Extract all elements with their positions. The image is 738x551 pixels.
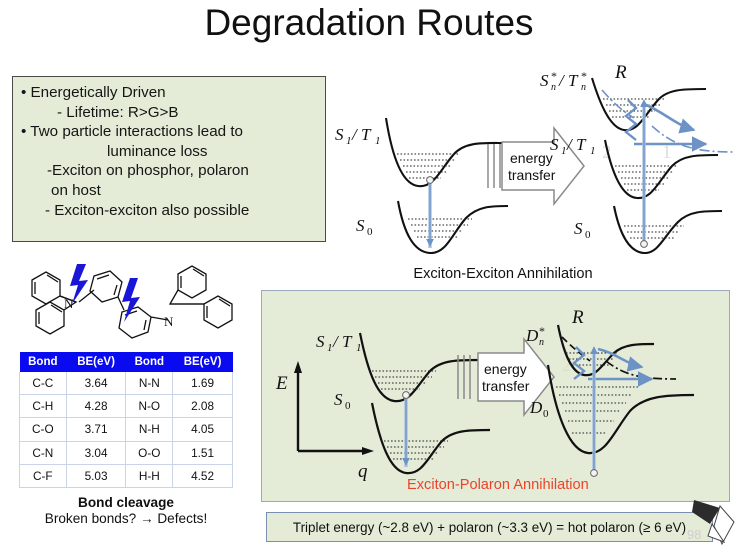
dissociation-path-r	[606, 361, 676, 379]
subscript-n: n	[581, 82, 586, 93]
axis-arrow-y	[294, 361, 302, 373]
axis-arrow-x	[362, 447, 374, 455]
cell-bond: N-H	[126, 418, 173, 441]
subscript-1: 1	[561, 145, 567, 157]
caption-heading: Bond cleavage	[19, 495, 233, 510]
state-label-dn: D	[525, 326, 539, 345]
slide-root: Degradation Routes • Energetically Drive…	[0, 0, 738, 551]
subscript-1: 1	[346, 135, 352, 147]
energy-transfer-diagram-top: 2 1 S 1 / T 1 S 0	[322, 56, 738, 254]
superscript-star: *	[551, 69, 557, 83]
subscript-1: 1	[327, 342, 333, 354]
table-row: C-H 4.28 N-O 2.08	[20, 395, 233, 418]
bullet-line: • Two particle interactions lead to	[21, 122, 319, 142]
exciton-polaron-panel: 2 E q	[261, 290, 730, 502]
column-header: Bond	[126, 352, 173, 372]
lightning-bolt-icon	[122, 278, 140, 322]
axis-label-q: q	[358, 461, 368, 482]
coordinate-label-r: R	[614, 62, 627, 83]
escape-arrow	[644, 104, 694, 130]
subscript-0: 0	[345, 400, 351, 412]
potential-curve-ground	[372, 403, 490, 473]
cell-be: 3.71	[66, 418, 126, 441]
subscript-1: 1	[375, 135, 381, 147]
vibrational-levels	[624, 226, 684, 238]
bullet-line: luminance loss	[107, 142, 319, 162]
summary-callout-box: Triplet energy (~2.8 eV) + polaron (~3.3…	[266, 512, 713, 542]
potential-curve-ground	[614, 206, 722, 253]
cell-bond: C-N	[20, 441, 67, 464]
slash: / T	[351, 125, 372, 144]
state-label-s1t1: S	[335, 125, 344, 144]
subscript-0: 0	[543, 408, 549, 420]
cell-bond: C-H	[20, 395, 67, 418]
potential-curve-ground	[398, 201, 508, 253]
axis-label-energy: E	[275, 373, 288, 394]
cell-bond: H-H	[126, 464, 173, 487]
cell-be: 3.64	[66, 372, 126, 395]
slash: / T	[558, 71, 579, 90]
vibrational-levels	[556, 387, 638, 433]
subscript-1: 1	[590, 145, 596, 157]
state-population-circle	[427, 177, 434, 184]
axes	[298, 369, 366, 451]
state-population-circle	[591, 470, 598, 477]
state-label-s0: S	[334, 390, 343, 409]
state-label-s1t1: S	[316, 332, 325, 351]
subscript-0: 0	[585, 229, 591, 241]
superscript-star: *	[539, 324, 545, 338]
table-row: C-O 3.71 N-H 4.05	[20, 418, 233, 441]
potential-curve-excited	[386, 118, 502, 186]
state-label-s1t1: S	[550, 135, 559, 154]
caption-subtext: Broken bonds? → Defects!	[19, 511, 233, 526]
bullets-panel: • Energetically Driven - Lifetime: R>G>B…	[12, 76, 326, 242]
atom-label-nitrogen: N	[164, 314, 174, 329]
slide-number: 98	[687, 527, 701, 542]
column-header: Bond	[20, 352, 67, 372]
subscript-n: n	[539, 337, 544, 348]
cell-be: 4.52	[173, 464, 233, 487]
state-population-circle	[403, 392, 410, 399]
slash: / T	[332, 332, 353, 351]
table-row: C-C 3.64 N-N 1.69	[20, 372, 233, 395]
column-header: BE(eV)	[173, 352, 233, 372]
cell-be: 1.69	[173, 372, 233, 395]
cell-be: 5.03	[66, 464, 126, 487]
section-heading-exciton-exciton: Exciton-Exciton Annihilation	[372, 266, 634, 282]
energy-transfer-label-line2: transfer	[482, 378, 530, 394]
cell-bond: N-O	[126, 395, 173, 418]
energy-transfer-label-line1: energy	[510, 150, 553, 166]
vibrational-relaxation-zigzag	[626, 100, 636, 140]
cell-bond: C-F	[20, 464, 67, 487]
bullet-line: - Lifetime: R>G>B	[57, 103, 319, 123]
cell-bond: N-N	[126, 372, 173, 395]
coordinate-label-r: R	[571, 307, 584, 328]
summary-text: Triplet energy (~2.8 eV) + polaron (~3.3…	[293, 520, 686, 535]
subscript-n: n	[551, 82, 556, 93]
state-label-sn-tn: S	[540, 71, 549, 90]
state-label-s0: S	[574, 219, 583, 238]
superscript-star: *	[581, 69, 587, 83]
state-label-d0: D	[529, 398, 543, 417]
state-population-circle	[641, 241, 648, 248]
page-title: Degradation Routes	[0, 2, 738, 44]
table-row: C-N 3.04 O-O 1.51	[20, 441, 233, 464]
slash: / T	[566, 135, 587, 154]
bullet-line: -Exciton on phosphor, polaron	[47, 161, 319, 181]
table-caption: Bond cleavage Broken bonds? → Defects!	[19, 495, 233, 526]
bond-energy-table: Bond BE(eV) Bond BE(eV) C-C 3.64 N-N 1.6…	[19, 352, 233, 488]
potential-curve-excited	[360, 333, 478, 401]
molecule-structure-diagram: N N	[18, 252, 250, 352]
table-header-row: Bond BE(eV) Bond BE(eV)	[20, 352, 233, 372]
energy-transfer-label-line2: transfer	[508, 167, 556, 183]
subscript-0: 0	[367, 226, 373, 238]
cell-bond: C-O	[20, 418, 67, 441]
energy-transfer-label-line1: energy	[484, 361, 527, 377]
bullet-line: • Energetically Driven	[21, 83, 319, 103]
subscript-1: 1	[356, 342, 362, 354]
exciton-polaron-annihilation-label: Exciton-Polaron Annihilation	[407, 477, 589, 493]
cell-bond: C-C	[20, 372, 67, 395]
energy-transfer-diagram-bottom: 2 E q	[262, 291, 728, 500]
state-label-s0: S	[356, 216, 365, 235]
cell-be: 4.28	[66, 395, 126, 418]
cell-be: 2.08	[173, 395, 233, 418]
column-header: BE(eV)	[66, 352, 126, 372]
table-row: C-F 5.03 H-H 4.52	[20, 464, 233, 487]
potential-curve-sn-tn	[592, 78, 706, 130]
bullet-line: - Exciton-exciton also possible	[45, 201, 319, 221]
atom-label-nitrogen: N	[64, 296, 74, 311]
cell-be: 3.04	[66, 441, 126, 464]
cell-bond: O-O	[126, 441, 173, 464]
bullet-line: on host	[51, 181, 319, 201]
cell-be: 4.05	[173, 418, 233, 441]
cell-be: 1.51	[173, 441, 233, 464]
